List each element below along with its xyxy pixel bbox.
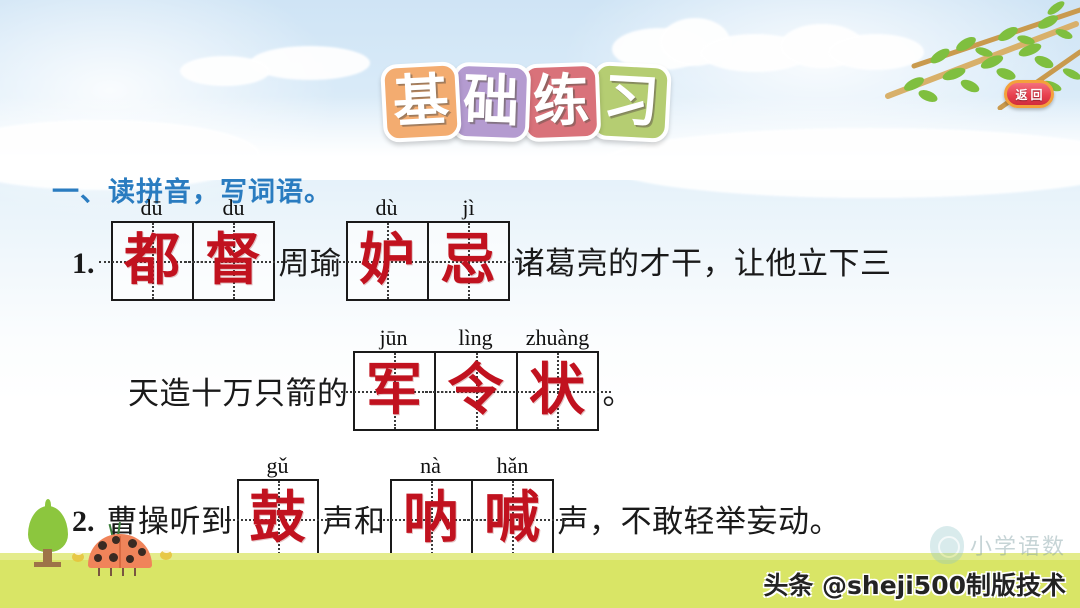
character-box[interactable]: 都 [111,221,193,301]
sentence-text: 周瑜 [279,248,342,301]
character-box[interactable]: 状 [517,351,599,431]
slide-canvas: 返回 基 础 练 习 一、读拼音，写词语。 1.dūdu都督周瑜dùjì妒忌诸葛… [0,0,1080,608]
answer-character: 状 [529,363,585,419]
ladybug-decoration [88,522,152,568]
word-group: jūnlìngzhuàng军令状 [353,326,599,431]
answer-character: 都 [124,233,180,289]
cloud-g [180,56,270,86]
pinyin-row: nàhǎn [390,454,554,479]
sentence-text: 声，不敢轻举妄动。 [558,506,842,559]
character-box[interactable]: 呐 [390,479,472,559]
sentence-text: 天造十万只箭的 [128,378,349,431]
character-box-row: 都督 [111,221,275,301]
pinyin-label: jūn [353,326,435,351]
tree-decoration [26,506,70,566]
pinyin-label: du [193,196,275,221]
word-group: dùjì妒忌 [346,196,510,301]
sentence-text: 。 [603,378,635,431]
exercise-line-2: 2.曹操听到gǔ鼓声和nàhǎn呐喊声，不敢轻举妄动。 [72,454,841,559]
item-number: 1. [72,249,95,301]
answer-character: 忌 [440,233,496,289]
character-box[interactable]: 忌 [428,221,510,301]
character-box-row: 呐喊 [390,479,554,559]
character-box[interactable]: 督 [193,221,275,301]
pinyin-label: gǔ [237,454,319,479]
answer-character: 呐 [403,491,459,547]
word-group: dūdu都督 [111,196,275,301]
answer-character: 督 [205,233,261,289]
word-group: nàhǎn呐喊 [390,454,554,559]
pinyin-label: jì [428,196,510,221]
bee-right [160,550,172,560]
pinyin-label: lìng [435,326,517,351]
character-box[interactable]: 喊 [472,479,554,559]
answer-character: 军 [366,363,422,419]
pinyin-label: nà [390,454,472,479]
sentence-text: 声和 [323,506,386,559]
pinyin-row: dùjì [346,196,510,221]
pinyin-label: zhuàng [517,326,599,351]
sentence-text: 诸葛亮的才干，让他立下三 [514,248,892,301]
title-tile-1: 基 [380,61,462,143]
character-box[interactable]: 妒 [346,221,428,301]
title-tile-2: 础 [451,62,532,143]
character-box[interactable]: 军 [353,351,435,431]
exercise-line-1b: 天造十万只箭的jūnlìngzhuàng军令状。 [128,326,634,431]
character-box-row: 鼓 [237,479,319,559]
pinyin-label: dū [111,196,193,221]
pinyin-label: dù [346,196,428,221]
title-tile-3: 练 [521,62,602,143]
pinyin-row: gǔ [237,454,319,479]
title-tile-2-char: 础 [462,73,520,131]
title-tile-1-char: 基 [392,73,451,132]
character-box-row: 妒忌 [346,221,510,301]
character-box[interactable]: 鼓 [237,479,319,559]
title-tile-3-char: 练 [532,73,590,131]
return-button[interactable]: 返回 [1004,80,1054,108]
pinyin-row: jūnlìngzhuàng [353,326,599,351]
word-group: gǔ鼓 [237,454,319,559]
page-title: 基 础 练 习 [382,63,670,141]
pinyin-row: dūdu [111,196,275,221]
title-tile-4-char: 习 [602,73,661,132]
character-box[interactable]: 令 [435,351,517,431]
answer-character: 鼓 [250,491,306,547]
return-button-label: 返回 [1012,86,1045,103]
title-tile-4: 习 [590,61,672,143]
answer-character: 令 [448,363,504,419]
cloud-i [600,128,1080,198]
ground-strip [0,560,1080,608]
character-box-row: 军令状 [353,351,599,431]
answer-character: 妒 [359,233,415,289]
exercise-line-1a: 1.dūdu都督周瑜dùjì妒忌诸葛亮的才干，让他立下三 [72,196,892,301]
pinyin-label: hǎn [472,454,554,479]
bee-left [72,552,84,562]
answer-character: 喊 [484,491,540,547]
